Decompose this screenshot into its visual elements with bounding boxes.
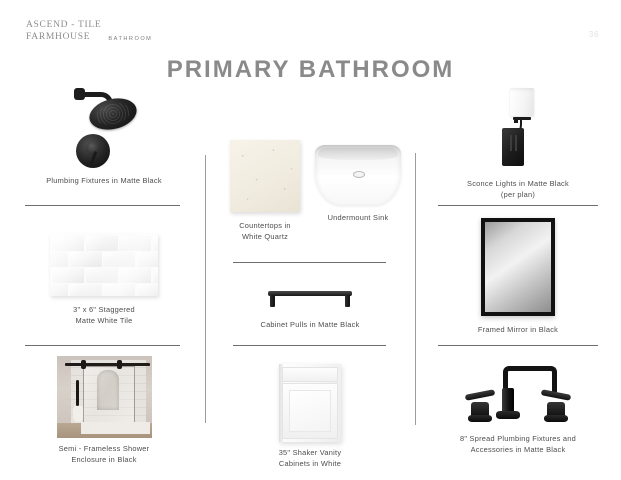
item-vanity-cabinets[interactable]: 35" Shaker Vanity Cabinets in White [232, 364, 388, 469]
glass-panel [83, 366, 135, 424]
roller-icon [81, 360, 86, 369]
brand-mark: ASCEND - TILE FARMHOUSE [26, 20, 101, 43]
sconce-backplate [502, 128, 524, 166]
shaker-cabinet-art [279, 364, 341, 442]
door-handle-icon [76, 380, 79, 406]
row-divider-right-1 [438, 205, 598, 206]
brand-line-1: ASCEND - TILE [26, 20, 101, 32]
framed-mirror-art [481, 218, 555, 316]
tile-row [50, 284, 158, 296]
tile-row [52, 236, 158, 251]
pull-leg-left [270, 295, 275, 307]
item-caption: Framed Mirror in Black [436, 325, 600, 336]
item-shower-enclosure[interactable]: Semi - Frameless Shower Enclosure in Bla… [22, 356, 186, 465]
item-caption: Sconce Lights in Matte Black (per plan) [436, 179, 600, 200]
item-caption: Plumbing Fixtures in Matte Black [20, 176, 188, 187]
page-number: 36 [589, 30, 599, 39]
item-caption: Countertops in White Quartz [222, 221, 308, 242]
cabinet-pull-art [268, 288, 352, 310]
faucet-handle-left [465, 389, 496, 401]
shower-pan [81, 422, 150, 434]
undermount-sink-art [315, 145, 401, 205]
column-divider-right [415, 153, 416, 425]
row-divider-left-1 [25, 205, 180, 206]
pull-bar [268, 291, 352, 296]
widespread-faucet-art [463, 362, 573, 428]
row-divider-left-2 [25, 345, 180, 346]
sink-drain-icon [353, 171, 365, 178]
tile-row [50, 252, 158, 267]
lamp-shade-icon [510, 88, 534, 116]
pull-leg-right [345, 295, 350, 307]
item-countertops[interactable]: Countertops in White Quartz [222, 140, 308, 242]
brand-subtitle: BATHROOM [108, 36, 152, 43]
item-caption: Cabinet Pulls in Matte Black [232, 320, 388, 331]
tile-row [52, 268, 158, 283]
column-divider-left [205, 155, 206, 423]
mirror-glass [485, 222, 551, 312]
item-sconce-lights[interactable]: Sconce Lights in Matte Black (per plan) [436, 88, 600, 200]
sliding-rail [65, 363, 150, 366]
item-caption: 8" Spread Plumbing Fixtures and Accessor… [436, 434, 600, 455]
faucet-escutcheon-left [468, 415, 492, 422]
board-header: ASCEND - TILE FARMHOUSE BATHROOM 36 [0, 0, 621, 52]
shower-valve-icon [76, 134, 110, 168]
item-caption: 3" x 6" Staggered Matte White Tile [22, 305, 186, 326]
shower-fixture-art [56, 82, 152, 174]
row-divider-middle-1 [233, 262, 386, 263]
roller-icon [117, 360, 122, 369]
wall-sconce-art [488, 88, 548, 176]
faucet-spout-base [496, 411, 520, 419]
faucet-escutcheon-right [544, 415, 568, 422]
item-wall-tile[interactable]: 3" x 6" Staggered Matte White Tile [22, 234, 186, 326]
subway-tile-art [50, 234, 158, 296]
brand-line-2: FARMHOUSE [26, 32, 101, 44]
quartz-swatch-art [230, 140, 300, 212]
row-divider-middle-2 [233, 345, 386, 346]
item-plumbing-fixtures[interactable]: Plumbing Fixtures in Matte Black [20, 82, 188, 187]
page-title: PRIMARY BATHROOM [0, 56, 621, 84]
row-divider-right-2 [438, 345, 598, 346]
sink-rim [318, 148, 398, 160]
shower-enclosure-art [57, 356, 152, 438]
item-caption: 35" Shaker Vanity Cabinets in White [232, 448, 388, 469]
item-caption: Undermount Sink [310, 213, 406, 224]
item-cabinet-pulls[interactable]: Cabinet Pulls in Matte Black [232, 288, 388, 331]
cabinet-door [282, 383, 338, 439]
item-undermount-sink[interactable]: Undermount Sink [310, 145, 406, 224]
cabinet-drawer [282, 367, 338, 382]
item-spread-fixtures[interactable]: 8" Spread Plumbing Fixtures and Accessor… [436, 362, 600, 455]
item-caption: Semi - Frameless Shower Enclosure in Bla… [22, 444, 186, 465]
brand-logo: ASCEND - TILE FARMHOUSE BATHROOM [26, 20, 152, 43]
item-framed-mirror[interactable]: Framed Mirror in Black [436, 218, 600, 336]
